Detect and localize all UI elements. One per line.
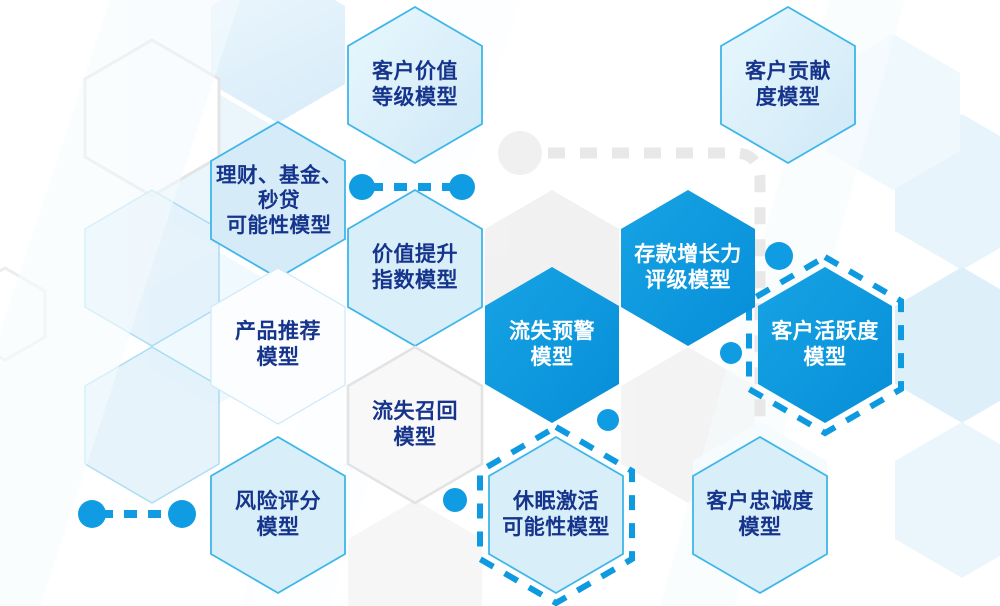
node-dormant-reactivation[interactable] [480,427,632,603]
connector-dot-deposit-bottom [720,342,742,364]
connector-dot-activity-top [765,242,793,270]
bg-hex-gray-bottomcenter [348,500,482,606]
diagram-background-layer [0,0,1000,606]
node-deposit-growth-rating[interactable] [621,190,755,346]
bg-hex-fill-right3 [895,422,1000,578]
diagram-canvas: 客户价值 等级模型 客户贡献 度模型 理财、基金、 秒贷 可能性模型 价值提升 … [0,0,1000,606]
connector-bottom-left [78,500,196,528]
bg-hex-fill-right2 [895,267,1000,423]
connector-dot [78,500,106,528]
connector-dot [349,174,375,200]
connector-dot-churn-bottom [597,409,619,431]
connector-dot [449,174,475,200]
connector-dot [168,500,196,528]
connector-gray-circle [498,131,542,175]
connector-dot-winback-bottom [443,488,467,512]
